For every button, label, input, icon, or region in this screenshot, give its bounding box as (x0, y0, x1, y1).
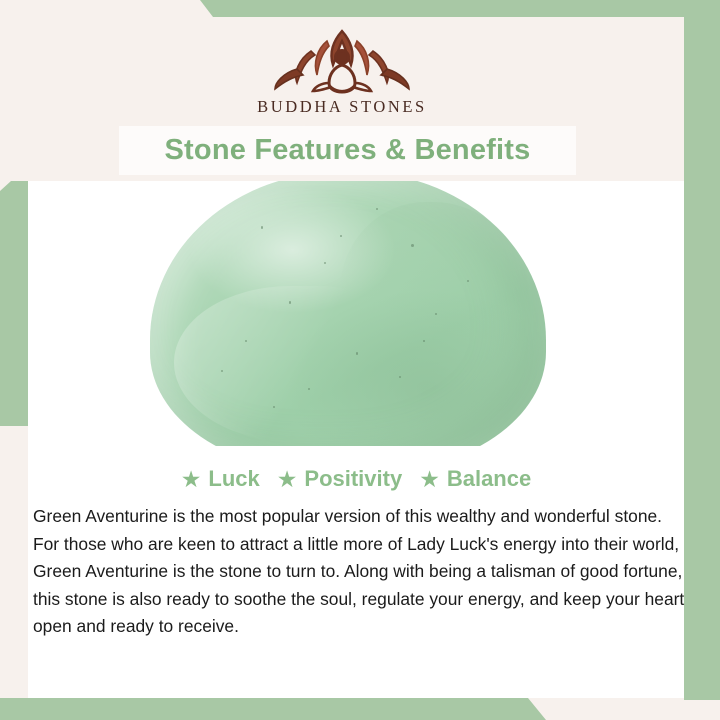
stone-speck (245, 340, 247, 342)
star-icon: ★ (419, 468, 440, 491)
stone-photo: Green Aventurine (28, 181, 684, 446)
features-list: ★ Luck ★ Positivity ★ Balance (28, 466, 684, 492)
feature-item-balance: ★ Balance (419, 466, 531, 492)
feature-label: Balance (447, 466, 531, 492)
stone-speck (423, 340, 425, 342)
accent-bar-left (0, 181, 28, 426)
stone-speck (261, 226, 264, 229)
page-title: Stone Features & Benefits (165, 134, 531, 167)
feature-item-positivity: ★ Positivity (277, 466, 402, 492)
stone-description: Green Aventurine is the most popular ver… (33, 503, 691, 641)
lotus-meditation-icon (267, 25, 417, 95)
stone-speck (376, 208, 378, 210)
feature-label: Positivity (304, 466, 402, 492)
stone-speck (273, 406, 275, 408)
green-aventurine-stone-image (150, 181, 546, 446)
feature-label: Luck (208, 466, 259, 492)
stone-speck (340, 235, 342, 237)
title-banner: Stone Features & Benefits (119, 126, 576, 175)
star-icon: ★ (277, 468, 298, 491)
star-icon: ★ (181, 468, 202, 491)
stone-speck (467, 280, 469, 282)
stone-speck (324, 262, 326, 264)
stone-info-card: BUDDHA STONES Stone Features & Benefits (0, 0, 720, 720)
brand-wordmark: BUDDHA STONES (257, 97, 427, 117)
brand-header: BUDDHA STONES (0, 17, 684, 125)
stone-speck (289, 301, 292, 304)
stone-facet-shadow (340, 202, 530, 400)
feature-item-luck: ★ Luck (181, 466, 260, 492)
